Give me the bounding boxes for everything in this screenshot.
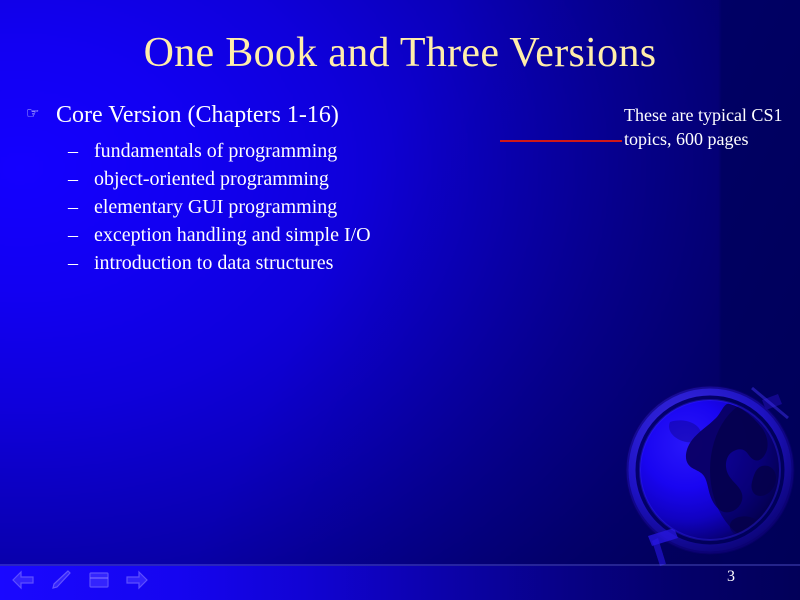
list-item-label: exception handling and simple I/O [94, 221, 371, 249]
bullet-level1: ☞ Core Version (Chapters 1-16) [22, 100, 492, 134]
dash-bullet-icon: – [68, 165, 94, 193]
list-item: – exception handling and simple I/O [22, 221, 492, 249]
list-item-label: introduction to data structures [94, 249, 333, 277]
dash-bullet-icon: – [68, 221, 94, 249]
pointing-hand-bullet-icon: ☞ [22, 99, 56, 130]
globe-watermark [612, 378, 800, 578]
list-item: – fundamentals of programming [22, 137, 492, 165]
left-arrow-icon [11, 570, 35, 595]
page-number: 3 [718, 566, 744, 588]
pencil-icon [50, 569, 72, 596]
slide-view-button[interactable] [84, 569, 114, 595]
bullet-list: ☞ Core Version (Chapters 1-16) – fundame… [22, 100, 492, 277]
dash-bullet-icon: – [68, 137, 94, 165]
navigation-buttons [8, 569, 152, 595]
callout-pointer-line [500, 140, 622, 142]
list-item-label: elementary GUI programming [94, 193, 337, 221]
callout-text: These are typical CS1 topics, 600 pages [624, 103, 800, 151]
list-item-label: object-oriented programming [94, 165, 329, 193]
page-icon [87, 570, 111, 595]
list-item: – introduction to data structures [22, 249, 492, 277]
annotate-button[interactable] [46, 569, 76, 595]
previous-slide-button[interactable] [8, 569, 38, 595]
right-arrow-icon [125, 570, 149, 595]
next-slide-button[interactable] [122, 569, 152, 595]
dash-bullet-icon: – [68, 193, 94, 221]
list-item: – object-oriented programming [22, 165, 492, 193]
list-item-label: fundamentals of programming [94, 137, 337, 165]
slide-canvas: One Book and Three Versions ☞ Core Versi… [0, 0, 800, 600]
list-item: – elementary GUI programming [22, 193, 492, 221]
bullet-level1-label: Core Version (Chapters 1-16) [56, 100, 339, 131]
dash-bullet-icon: – [68, 249, 94, 277]
slide-title: One Book and Three Versions [0, 28, 800, 78]
